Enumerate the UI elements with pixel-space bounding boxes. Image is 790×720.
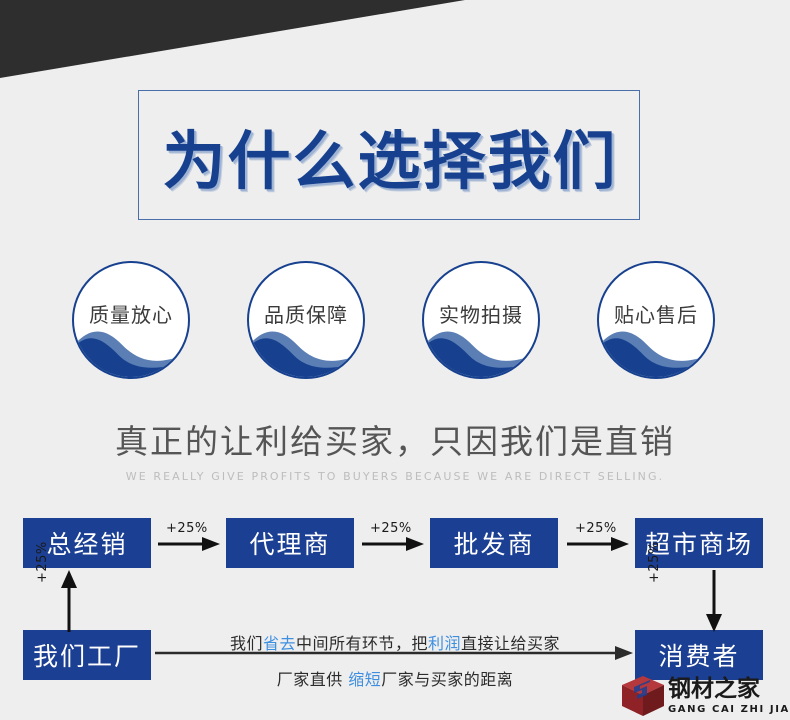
feature-circle-label: 质量放心 (74, 263, 188, 377)
box-cube-icon (620, 674, 666, 718)
mid1-part1: 我们 (230, 634, 263, 653)
box-cube-logo-icon (620, 674, 666, 718)
arrow-right-icon (158, 536, 220, 552)
flow-node-wholesaler: 批发商 (430, 518, 558, 568)
mid1-highlight2: 利润 (428, 634, 461, 653)
markup-label-1: +25% (370, 521, 412, 536)
flow-middle-text-line2: 厂家直供 缩短厂家与买家的距离 (165, 666, 625, 690)
brand-logo: 钢材之家 GANG CAI ZHI JIA (620, 672, 790, 720)
feature-circle-3: 贴心售后 (597, 261, 715, 379)
flow-middle-text-line1: 我们省去中间所有环节，把利润直接让给买家 (165, 630, 625, 654)
feature-circle-0: 质量放心 (72, 261, 190, 379)
feature-circle-label: 贴心售后 (599, 263, 713, 377)
arrow-down-icon (705, 570, 723, 632)
mid1-part2: 中间所有环节，把 (296, 634, 428, 653)
brand-logo-text: 钢材之家 GANG CAI ZHI JIA (668, 678, 790, 715)
markup-label-vertical-left: +25% (35, 541, 50, 583)
markup-label-2: +25% (575, 521, 617, 536)
promo-banner-page: 为什么选择我们 质量放心 品质保障 实物拍摄 (0, 0, 790, 720)
arrow-up-icon (60, 570, 78, 632)
mid1-highlight1: 省去 (263, 634, 296, 653)
feature-circle-2: 实物拍摄 (422, 261, 540, 379)
feature-circle-label: 实物拍摄 (424, 263, 538, 377)
markup-label-0: +25% (166, 521, 208, 536)
feature-circle-label: 品质保障 (249, 263, 363, 377)
mid2-part2: 厂家与买家的距离 (381, 670, 513, 689)
arrow-right-icon (567, 536, 629, 552)
markup-label-vertical-right: +25% (647, 541, 662, 583)
brand-name-cn: 钢材之家 (668, 678, 790, 701)
flow-node-our-factory: 我们工厂 (23, 630, 151, 680)
brand-name-en: GANG CAI ZHI JIA (668, 704, 790, 715)
arrow-right-icon (362, 536, 424, 552)
mid1-part3: 直接让给买家 (461, 634, 560, 653)
mid2-highlight1: 缩短 (348, 670, 381, 689)
feature-circle-1: 品质保障 (247, 261, 365, 379)
flow-node-agent: 代理商 (226, 518, 354, 568)
mid2-part1: 厂家直供 (277, 670, 349, 689)
